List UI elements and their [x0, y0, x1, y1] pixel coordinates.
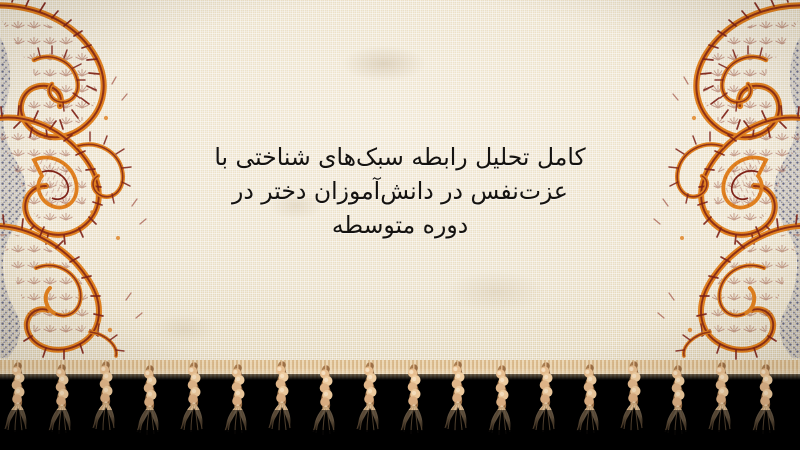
title-line-3: دوره متوسطه: [160, 208, 640, 242]
page-title: کامل تحلیل رابطه سبک‌های شناختی با عزت‌ن…: [160, 140, 640, 242]
title-line-2: عزت‌نفس در دانش‌آموزان دختر در: [160, 174, 640, 208]
title-card: کامل تحلیل رابطه سبک‌های شناختی با عزت‌ن…: [0, 0, 800, 450]
title-line-1: کامل تحلیل رابطه سبک‌های شناختی با: [160, 140, 640, 174]
